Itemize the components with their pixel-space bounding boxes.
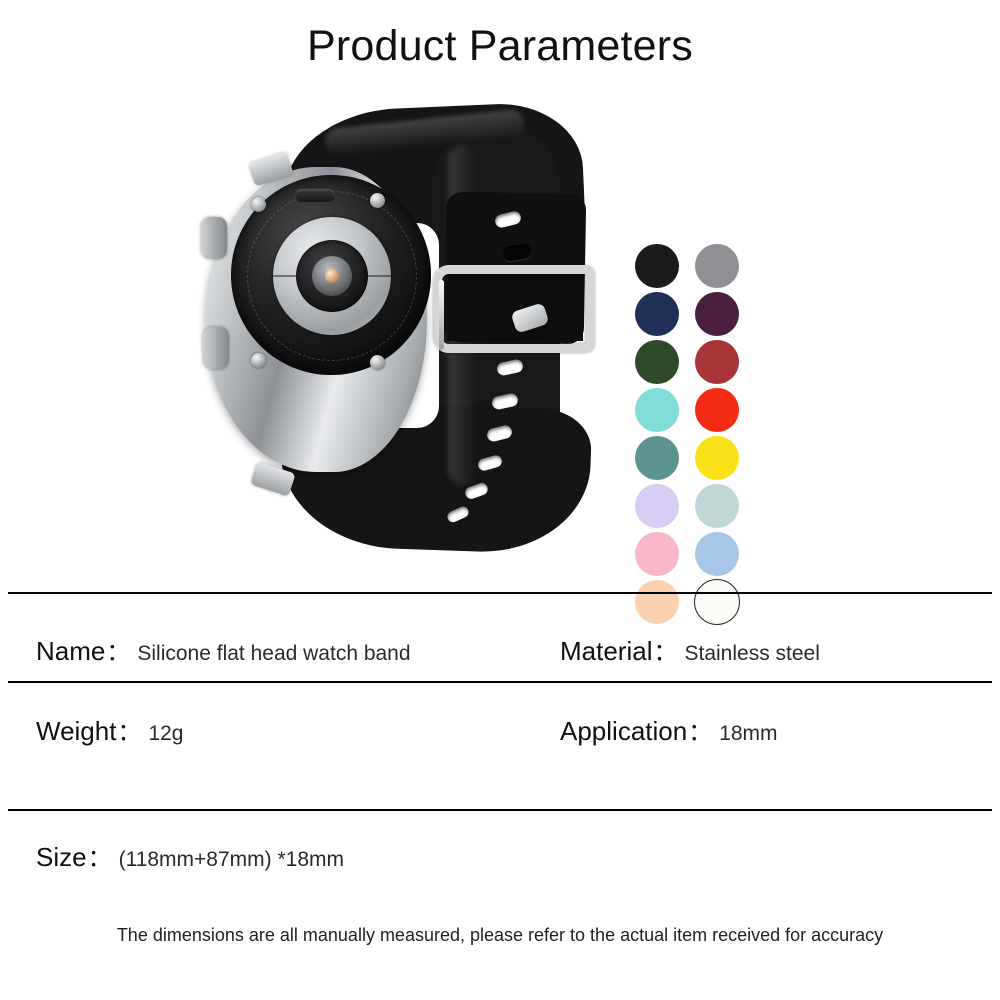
spec-weight: Weight ： 12g bbox=[36, 712, 184, 747]
spec-size: Size ： (118mm+87mm) *18mm bbox=[36, 838, 344, 873]
spec-application-value: 18mm bbox=[719, 722, 777, 746]
buckle-frame bbox=[433, 265, 595, 353]
table-divider bbox=[8, 681, 992, 683]
spec-colon: ： bbox=[652, 632, 684, 667]
heart-rate-sensor-led bbox=[325, 269, 339, 283]
color-swatch-peach[interactable] bbox=[635, 580, 679, 624]
hero-section bbox=[0, 100, 1000, 570]
color-swatch-dark-plum[interactable] bbox=[695, 292, 739, 336]
caseback-screw bbox=[251, 353, 266, 368]
color-swatch-pink[interactable] bbox=[635, 532, 679, 576]
color-swatch-white[interactable] bbox=[694, 579, 740, 625]
spec-colon: ： bbox=[87, 838, 119, 873]
page-title: Product Parameters bbox=[0, 22, 1000, 71]
color-swatch-bright-red[interactable] bbox=[695, 388, 739, 432]
spec-application-label: Application bbox=[560, 716, 687, 747]
color-swatch-teal-sage[interactable] bbox=[635, 436, 679, 480]
spec-name: Name ： Silicone flat head watch band bbox=[36, 632, 411, 667]
caseback-screw bbox=[370, 193, 385, 208]
spec-material: Material ： Stainless steel bbox=[560, 632, 820, 667]
caseback-screw bbox=[251, 197, 266, 212]
table-divider bbox=[8, 592, 992, 594]
spec-colon: ： bbox=[105, 632, 137, 667]
color-swatch-gray[interactable] bbox=[695, 244, 739, 288]
color-swatch-pale-aqua[interactable] bbox=[695, 484, 739, 528]
spec-size-label: Size bbox=[36, 842, 87, 873]
product-image-watch-band bbox=[195, 105, 640, 550]
caseback-screw bbox=[370, 355, 385, 370]
table-divider bbox=[8, 809, 992, 811]
color-swatch-light-blue[interactable] bbox=[695, 532, 739, 576]
color-swatch-yellow[interactable] bbox=[695, 436, 739, 480]
watch-side-button-top bbox=[201, 217, 227, 259]
spec-material-value: Stainless steel bbox=[684, 642, 819, 666]
color-swatch-brick-red[interactable] bbox=[695, 340, 739, 384]
product-parameters-page: Product Parameters bbox=[0, 0, 1000, 1000]
color-swatch-black[interactable] bbox=[635, 244, 679, 288]
measurement-disclaimer: The dimensions are all manually measured… bbox=[0, 925, 1000, 946]
color-swatch-turquoise[interactable] bbox=[635, 388, 679, 432]
spec-name-value: Silicone flat head watch band bbox=[137, 642, 410, 666]
color-swatch-grid bbox=[628, 242, 746, 626]
spec-material-label: Material bbox=[560, 636, 652, 667]
watch-side-button-bottom bbox=[203, 327, 229, 369]
caseback-sensor-slot bbox=[295, 189, 335, 202]
color-swatch-lavender[interactable] bbox=[635, 484, 679, 528]
spec-colon: ： bbox=[687, 712, 719, 747]
spec-weight-value: 12g bbox=[148, 722, 183, 746]
spec-size-value: (118mm+87mm) *18mm bbox=[119, 848, 344, 872]
spec-colon: ： bbox=[116, 712, 148, 747]
spec-application: Application ： 18mm bbox=[560, 712, 778, 747]
color-swatch-navy-blue[interactable] bbox=[635, 292, 679, 336]
spec-weight-label: Weight bbox=[36, 716, 116, 747]
color-swatch-dark-green[interactable] bbox=[635, 340, 679, 384]
spec-name-label: Name bbox=[36, 636, 105, 667]
